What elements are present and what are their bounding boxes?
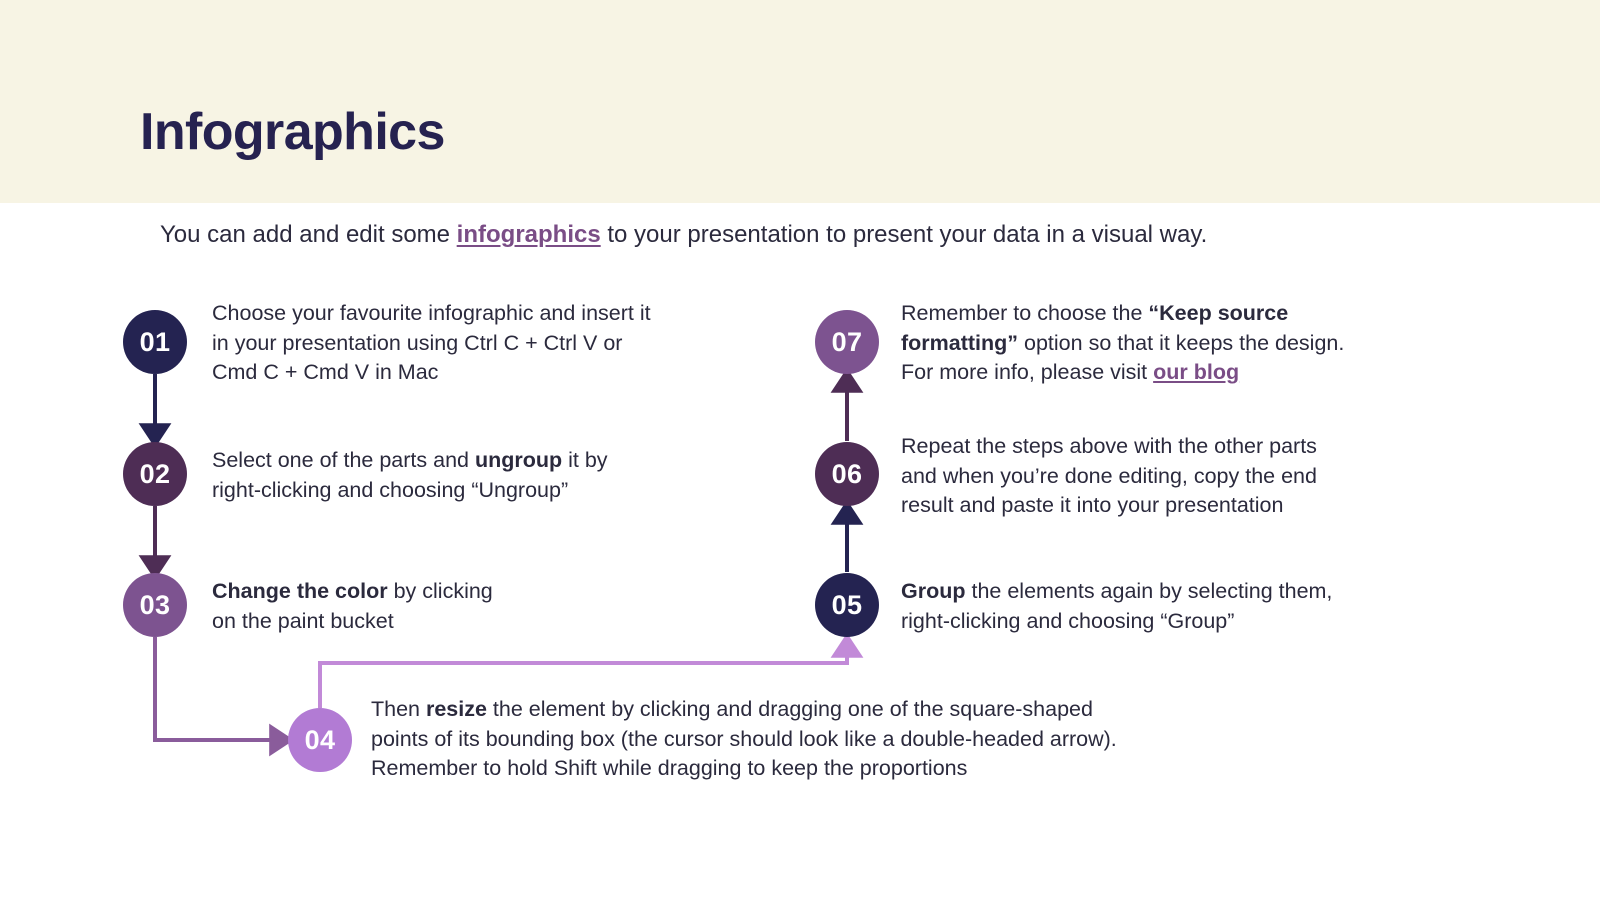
emphasis-text: Group bbox=[901, 579, 966, 603]
step-02-bubble[interactable]: 02 bbox=[123, 442, 187, 506]
infographics-link[interactable]: infographics bbox=[457, 221, 601, 248]
text-line: For more info, please visit our blog bbox=[901, 358, 1461, 388]
text-line: Repeat the steps above with the other pa… bbox=[901, 432, 1461, 462]
body-text: by clicking bbox=[388, 579, 493, 603]
emphasis-text: resize bbox=[426, 697, 487, 721]
step-06-number: 06 bbox=[832, 459, 863, 490]
intro-text-before: You can add and edit some bbox=[160, 221, 457, 248]
step-03-bubble[interactable]: 03 bbox=[123, 573, 187, 637]
body-text: the elements again by selecting them, bbox=[966, 579, 1333, 603]
step-01-number: 01 bbox=[140, 327, 171, 358]
text-line: Cmd C + Cmd V in Mac bbox=[212, 358, 772, 388]
body-text: and when you’re done editing, copy the e… bbox=[901, 464, 1317, 488]
step-04-number: 04 bbox=[305, 725, 336, 756]
emphasis-text: ungroup bbox=[475, 448, 562, 472]
emphasis-text: formatting” bbox=[901, 331, 1018, 355]
step-04-bubble[interactable]: 04 bbox=[288, 708, 352, 772]
step-05-text: Group the elements again by selecting th… bbox=[901, 577, 1461, 636]
text-line: and when you’re done editing, copy the e… bbox=[901, 462, 1461, 492]
step-02-number: 02 bbox=[140, 459, 171, 490]
slide-canvas: Infographics You can add and edit some i… bbox=[0, 0, 1600, 900]
text-line: right-clicking and choosing “Group” bbox=[901, 607, 1461, 637]
step-03-text: Change the color by clickingon the paint… bbox=[212, 577, 772, 636]
emphasis-text: Change the color bbox=[212, 579, 388, 603]
step-05-bubble[interactable]: 05 bbox=[815, 573, 879, 637]
text-line: on the paint bucket bbox=[212, 607, 772, 637]
text-line: Select one of the parts and ungroup it b… bbox=[212, 446, 772, 476]
step-03-number: 03 bbox=[140, 590, 171, 621]
our-blog-link[interactable]: our blog bbox=[1153, 360, 1239, 384]
header-band bbox=[0, 0, 1600, 203]
body-text: Cmd C + Cmd V in Mac bbox=[212, 360, 438, 384]
intro-paragraph: You can add and edit some infographics t… bbox=[160, 219, 1207, 251]
step-07-text: Remember to choose the “Keep sourceforma… bbox=[901, 299, 1461, 388]
step-06-bubble[interactable]: 06 bbox=[815, 442, 879, 506]
body-text: option so that it keeps the design. bbox=[1018, 331, 1344, 355]
step-01-bubble[interactable]: 01 bbox=[123, 310, 187, 374]
body-text: Remember to choose the bbox=[901, 301, 1148, 325]
text-line: right-clicking and choosing “Ungroup” bbox=[212, 476, 772, 506]
body-text: it by bbox=[562, 448, 607, 472]
step-06-text: Repeat the steps above with the other pa… bbox=[901, 432, 1461, 521]
step-02-text: Select one of the parts and ungroup it b… bbox=[212, 446, 772, 505]
text-line: points of its bounding box (the cursor s… bbox=[371, 725, 1301, 755]
text-line: Remember to choose the “Keep source bbox=[901, 299, 1461, 329]
body-text: Remember to hold Shift while dragging to… bbox=[371, 756, 967, 780]
text-line: Change the color by clicking bbox=[212, 577, 772, 607]
body-text: result and paste it into your presentati… bbox=[901, 493, 1283, 517]
text-line: Choose your favourite infographic and in… bbox=[212, 299, 772, 329]
emphasis-text: “Keep source bbox=[1148, 301, 1288, 325]
text-line: formatting” option so that it keeps the … bbox=[901, 329, 1461, 359]
text-line: in your presentation using Ctrl C + Ctrl… bbox=[212, 329, 772, 359]
body-text: right-clicking and choosing “Ungroup” bbox=[212, 478, 568, 502]
text-line: Remember to hold Shift while dragging to… bbox=[371, 754, 1301, 784]
body-text: For more info, please visit bbox=[901, 360, 1153, 384]
arrow-03-to-04 bbox=[155, 637, 282, 740]
intro-text-after: to your presentation to present your dat… bbox=[601, 221, 1208, 248]
body-text: points of its bounding box (the cursor s… bbox=[371, 727, 1117, 751]
body-text: Repeat the steps above with the other pa… bbox=[901, 434, 1317, 458]
step-05-number: 05 bbox=[832, 590, 863, 621]
body-text: right-clicking and choosing “Group” bbox=[901, 609, 1234, 633]
body-text: in your presentation using Ctrl C + Ctrl… bbox=[212, 331, 622, 355]
body-text: Select one of the parts and bbox=[212, 448, 475, 472]
step-07-number: 07 bbox=[832, 327, 863, 358]
step-01-text: Choose your favourite infographic and in… bbox=[212, 299, 772, 388]
page-title: Infographics bbox=[140, 103, 445, 163]
step-07-bubble[interactable]: 07 bbox=[815, 310, 879, 374]
body-text: Then bbox=[371, 697, 426, 721]
body-text: Choose your favourite infographic and in… bbox=[212, 301, 651, 325]
step-04-text: Then resize the element by clicking and … bbox=[371, 695, 1301, 784]
text-line: result and paste it into your presentati… bbox=[901, 491, 1461, 521]
text-line: Group the elements again by selecting th… bbox=[901, 577, 1461, 607]
body-text: the element by clicking and dragging one… bbox=[487, 697, 1093, 721]
text-line: Then resize the element by clicking and … bbox=[371, 695, 1301, 725]
body-text: on the paint bucket bbox=[212, 609, 394, 633]
